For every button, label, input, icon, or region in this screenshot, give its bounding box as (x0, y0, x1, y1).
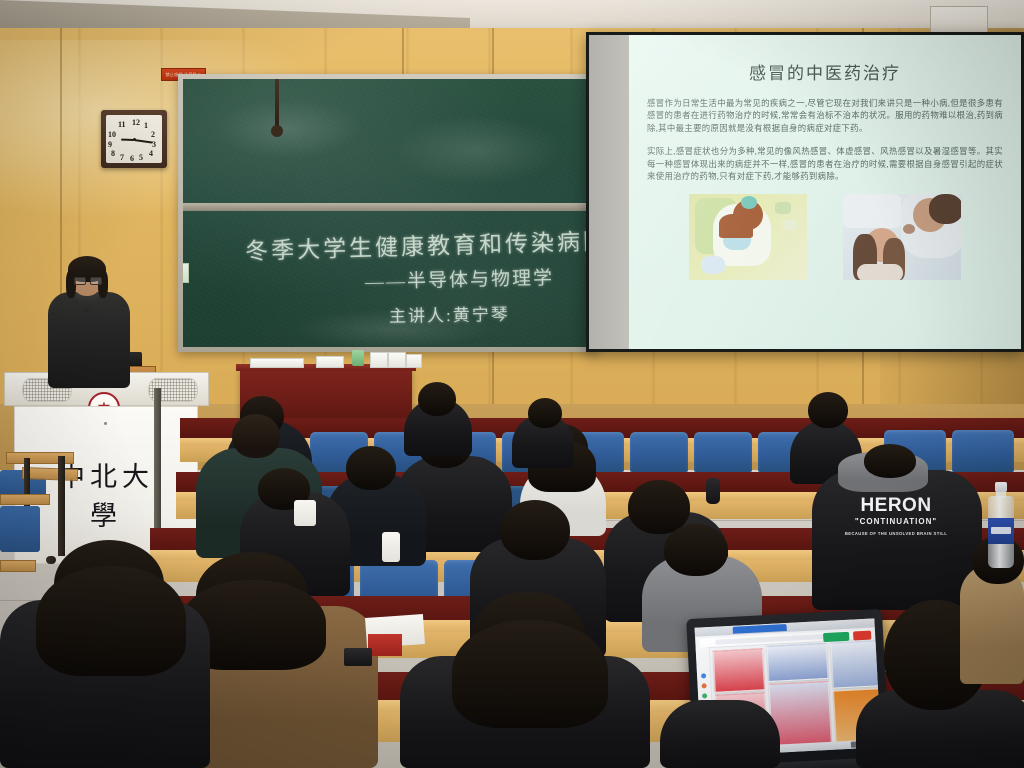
side-desk-foot (46, 556, 56, 564)
clock-number: 1 (144, 121, 148, 130)
desk-papers (250, 358, 304, 368)
slide-paragraph-1: 感冒作为日常生活中最为常见的疾病之一,尽管它现在对我们来讲只是一种小病,但是很多… (647, 98, 1003, 135)
pointer-stick-tip (271, 125, 283, 137)
secondary-action-button[interactable] (853, 631, 871, 641)
clock-number: 9 (108, 140, 112, 149)
clock-number: 12 (132, 118, 140, 127)
thermos-bottle (706, 478, 720, 504)
hoodie-fineprint-text: BECAUSE OF THE UNSOLVED BRAIN STILL (830, 532, 962, 536)
desk-papers (316, 356, 344, 368)
side-desk-leg (58, 456, 65, 556)
seat (952, 430, 1014, 472)
document-thumbnail[interactable] (767, 643, 829, 682)
desk-box (388, 352, 406, 368)
red-bag (368, 634, 402, 656)
blackboard-frame: 冬季大学生健康教育和传染病防 ——半导体与物理学 主讲人:黄宁琴 (178, 74, 598, 352)
phone-on-desk (344, 648, 372, 666)
water-bottle (988, 482, 1014, 568)
clock-number: 6 (130, 154, 134, 163)
wall-clock: 12 1 2 3 4 5 6 7 8 9 10 11 (101, 110, 167, 168)
projection-screen: 感冒的中医药治疗 感冒作为日常生活中最为常见的疾病之一,尽管它现在对我们来讲只是… (586, 32, 1024, 352)
blackboard: 冬季大学生健康教育和传染病防 ——半导体与物理学 主讲人:黄宁琴 (183, 79, 593, 347)
clock-number: 7 (120, 153, 124, 162)
sidebar-icon[interactable] (701, 683, 706, 688)
clock-number: 10 (108, 130, 116, 139)
bottle-label (988, 518, 1014, 544)
slide-image-photo (843, 194, 961, 280)
lecturer-glasses (74, 277, 100, 283)
side-desk-shelf (0, 494, 50, 505)
clock-number: 2 (151, 130, 155, 139)
primary-action-button[interactable] (823, 632, 849, 642)
slide-image-cartoon (689, 194, 807, 280)
document-thumbnail[interactable] (831, 640, 882, 689)
side-desk-shelf (22, 467, 78, 481)
slide-paragraph-2: 实际上,感冒症状也分为多种,常见的像风热感冒、体虚感冒、风热感冒以及暑湿感冒等。… (647, 146, 1003, 183)
screen-unprojected-margin (589, 35, 629, 349)
side-desk-shelf (0, 560, 36, 572)
wall-notice-card (183, 263, 189, 283)
slide-title: 感冒的中医药治疗 (647, 59, 1003, 84)
chalk-smudge (213, 99, 363, 159)
hoodie-brand-text: HERON (832, 496, 960, 515)
chalk-line-subtitle: ——半导体与物理学 (365, 263, 555, 294)
blackboard-middle-rail (183, 203, 593, 211)
screen-surface: 感冒的中医药治疗 感冒作为日常生活中最为常见的疾病之一,尽管它现在对我们来讲只是… (589, 35, 1021, 349)
seat (630, 432, 688, 472)
presentation-slide: 感冒的中医药治疗 感冒作为日常生活中最为常见的疾病之一,尽管它现在对我们来讲只是… (629, 35, 1021, 349)
pointer-stick (275, 79, 279, 127)
document-thumbnail[interactable] (713, 648, 765, 693)
clock-number: 11 (118, 120, 126, 129)
clock-number: 4 (149, 149, 153, 158)
cup-on-desk (294, 500, 316, 526)
desk-cup (352, 350, 364, 366)
clock-face: 12 1 2 3 4 5 6 7 8 9 10 11 (106, 115, 162, 163)
seat (694, 432, 752, 472)
clock-number: 5 (139, 153, 143, 162)
slide-image-row (647, 194, 1003, 280)
clock-minute-hand (134, 139, 153, 143)
desk-box (406, 354, 422, 368)
chalk-line-speaker: 主讲人:黄宁琴 (389, 300, 510, 327)
clock-number: 8 (111, 149, 115, 158)
chalk-smudge (393, 115, 563, 185)
bottle-neck (996, 491, 1006, 498)
cup-on-desk (382, 532, 400, 562)
lecture-hall-photo: 12 1 2 3 4 5 6 7 8 9 10 11 禁止吸烟 注意防火 (0, 0, 1024, 768)
sidebar-icon[interactable] (702, 693, 707, 698)
desk-box (370, 352, 388, 368)
clock-center-pin (133, 138, 136, 141)
podium-fixing-screw (104, 422, 107, 425)
sidebar-icon[interactable] (701, 673, 706, 678)
side-chair-back (0, 506, 40, 552)
hoodie-subtitle-text: "CONTINUATION" (832, 518, 960, 526)
bottle-cap (995, 482, 1007, 492)
